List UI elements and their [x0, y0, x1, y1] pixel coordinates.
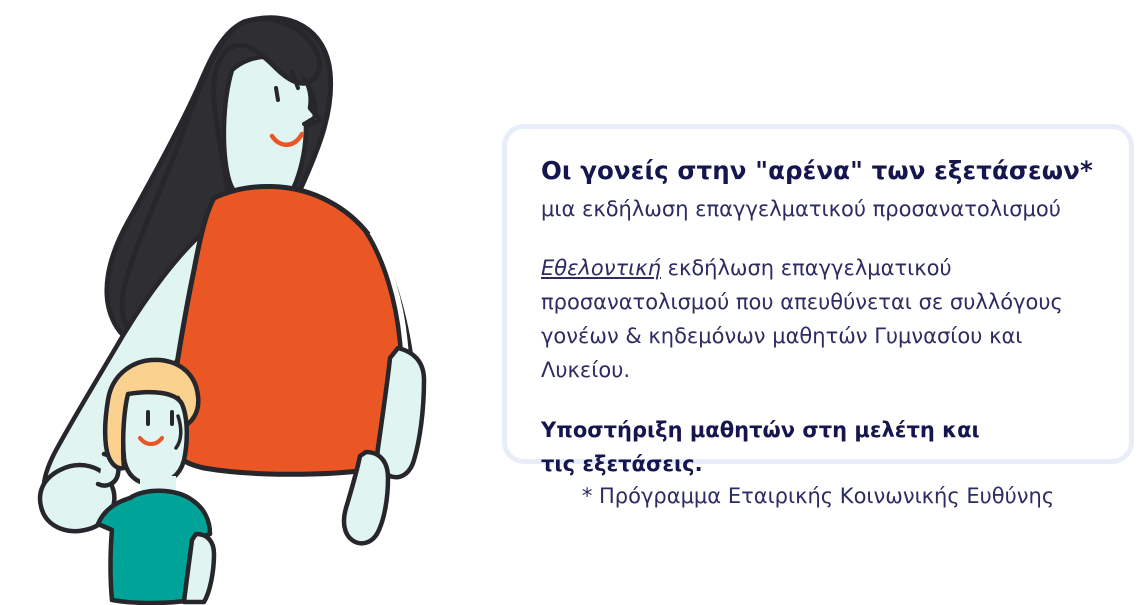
- child-face: [123, 392, 187, 484]
- footnote: * Πρόγραμμα Εταιρικής Κοινωνικής Ευθύνης: [502, 482, 1134, 511]
- card-highlight: Υποστήριξη μαθητών στη μελέτη και τις εξ…: [541, 413, 1011, 481]
- woman-eye: [276, 88, 278, 100]
- card-body-emphasis: Εθελοντική: [541, 256, 661, 280]
- card-body-paragraph: Εθελοντική εκδήλωση επαγγελματικού προσα…: [541, 251, 1095, 387]
- text-column: Οι γονείς στην "αρένα" των εξετάσεων* μι…: [502, 124, 1138, 544]
- card-subtitle: μια εκδήλωση επαγγελματικού προσανατολισ…: [541, 195, 1095, 223]
- mother-and-child-illustration: [0, 0, 480, 605]
- illustration-svg: [0, 0, 480, 605]
- info-card: Οι γονείς στην "αρένα" των εξετάσεων* μι…: [502, 124, 1134, 464]
- card-title: Οι γονείς στην "αρένα" των εξετάσεων*: [541, 155, 1095, 187]
- info-card-content: Οι γονείς στην "αρένα" των εξετάσεων* μι…: [507, 129, 1129, 481]
- page-root: Οι γονείς στην "αρένα" των εξετάσεων* μι…: [0, 0, 1140, 605]
